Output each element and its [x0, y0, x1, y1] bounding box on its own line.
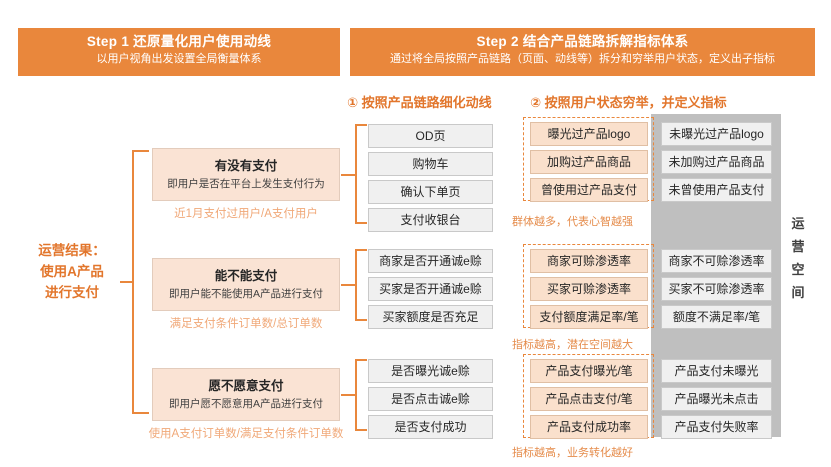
indicator-pos-2-3: 支付额度满足率/笔	[530, 305, 648, 329]
indicator-pos-1-2: 加购过产品商品	[530, 150, 648, 174]
step1-title: Step 1 还原量化用户使用动线	[18, 33, 340, 50]
chain-step-2-2: 买家是否开通诚e赊	[368, 277, 493, 301]
step1-banner: Step 1 还原量化用户使用动线 以用户视角出发设置全局衡量体系	[18, 28, 340, 76]
operation-space-char-4: 间	[787, 281, 809, 304]
diagram-canvas: Step 1 还原量化用户使用动线 以用户视角出发设置全局衡量体系 Step 2…	[0, 0, 831, 467]
indicator-caption-3: 指标越高，业务转化越好	[512, 444, 633, 460]
chain-step-3-3: 是否支付成功	[368, 415, 493, 439]
subheading-product-chain: ① 按照产品链路细化动线	[347, 92, 492, 111]
step2-banner: Step 2 结合产品链路拆解指标体系 通过将全局按照产品链路（页面、动线等）拆…	[350, 28, 815, 76]
indicator-neg-1-3: 未曾使用产品支付	[661, 178, 772, 202]
indicator-pos-3-1: 产品支付曝光/笔	[530, 359, 648, 383]
indicator-neg-3-3: 产品支付失败率	[661, 415, 772, 439]
left-group-bracket	[132, 150, 149, 414]
chain-step-1-1: OD页	[368, 124, 493, 148]
indicator-caption-1: 群体越多，代表心智越强	[512, 213, 633, 229]
indicator-pos-3-3: 产品支付成功率	[530, 415, 648, 439]
chain-step-1-4: 支付收银台	[368, 208, 493, 232]
chain-step-3-1: 是否曝光诚e赊	[368, 359, 493, 383]
operation-result-line2: 使用A产品	[16, 261, 128, 282]
indicator-neg-1-2: 未加购过产品商品	[661, 150, 772, 174]
indicator-neg-1-1: 未曝光过产品logo	[661, 122, 772, 146]
operation-space-char-1: 运	[787, 212, 809, 235]
stage-1-connector	[341, 174, 355, 176]
stage-box-2: 能不能支付 即用户能不能使用A产品进行支付	[152, 258, 340, 311]
stage-caption-2: 满足支付条件订单数/总订单数	[140, 317, 352, 332]
stage-box-3: 愿不愿意支付 即用户愿不愿意用A产品进行支付	[152, 368, 340, 421]
left-group-connector	[120, 281, 134, 283]
chain-step-1-2: 购物车	[368, 152, 493, 176]
middle-group-2-bracket	[355, 249, 367, 321]
step2-subtitle: 通过将全局按照产品链路（页面、动线等）拆分和穷举用户状态，定义出子指标	[350, 51, 815, 67]
stage-box-3-desc: 即用户愿不愿意用A产品进行支付	[153, 396, 339, 412]
indicator-neg-2-1: 商家不可赊渗透率	[661, 249, 772, 273]
stage-box-3-title: 愿不愿意支付	[153, 378, 339, 395]
subheading-user-state: ② 按照用户状态穷举，并定义指标	[530, 92, 727, 111]
stage-caption-3: 使用A支付订单数/满足支付条件订单数	[140, 427, 352, 442]
stage-box-1: 有没有支付 即用户是否在平台上发生支付行为	[152, 148, 340, 201]
indicator-pos-2-1: 商家可赊渗透率	[530, 249, 648, 273]
step2-title: Step 2 结合产品链路拆解指标体系	[350, 33, 815, 50]
middle-group-3-bracket	[355, 359, 367, 431]
indicator-neg-2-3: 额度不满足率/笔	[661, 305, 772, 329]
stage-box-2-title: 能不能支付	[153, 268, 339, 285]
stage-3-connector	[341, 394, 355, 396]
operation-result-line1: 运营结果：	[16, 240, 128, 261]
indicator-pos-3-2: 产品点击支付/笔	[530, 387, 648, 411]
indicator-neg-3-2: 产品曝光未点击	[661, 387, 772, 411]
operation-space-char-2: 营	[787, 235, 809, 258]
indicator-pos-2-2: 买家可赊渗透率	[530, 277, 648, 301]
operation-result-line3: 进行支付	[16, 282, 128, 303]
chain-step-2-1: 商家是否开通诚e赊	[368, 249, 493, 273]
chain-step-2-3: 买家额度是否充足	[368, 305, 493, 329]
indicator-caption-2: 指标越高，潜在空间越大	[512, 336, 633, 352]
stage-box-1-desc: 即用户是否在平台上发生支付行为	[153, 176, 339, 192]
indicator-neg-3-1: 产品支付未曝光	[661, 359, 772, 383]
stage-2-connector	[341, 284, 355, 286]
middle-group-1-bracket	[355, 124, 367, 224]
indicator-pos-1-1: 曝光过产品logo	[530, 122, 648, 146]
stage-caption-1: 近1月支付过用户/A支付用户	[140, 207, 352, 222]
operation-space-char-3: 空	[787, 258, 809, 281]
chain-step-1-3: 确认下单页	[368, 180, 493, 204]
stage-box-2-desc: 即用户能不能使用A产品进行支付	[153, 286, 339, 302]
stage-box-1-title: 有没有支付	[153, 158, 339, 175]
step1-subtitle: 以用户视角出发设置全局衡量体系	[18, 51, 340, 67]
operation-result-label: 运营结果： 使用A产品 进行支付	[16, 240, 128, 303]
chain-step-3-2: 是否点击诚e赊	[368, 387, 493, 411]
indicator-neg-2-2: 买家不可赊渗透率	[661, 277, 772, 301]
indicator-pos-1-3: 曾使用过产品支付	[530, 178, 648, 202]
operation-space-label: 运 营 空 间	[787, 212, 809, 304]
